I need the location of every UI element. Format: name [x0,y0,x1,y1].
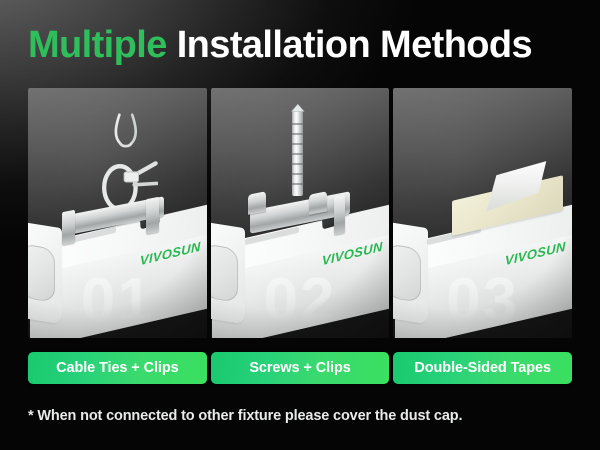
mounting-clip-tab-right [146,197,159,234]
page-title: Multiple Installation Methods [28,26,532,64]
method-panel-02[interactable]: VIVOSUN 02 [211,88,390,338]
method-panels: VIVOSUN 01 [28,88,572,338]
title-rest: Installation Methods [177,24,532,66]
promo-graphic: Multiple Installation Methods [0,0,600,450]
method-labels: Cable Ties + Clips Screws + Clips Double… [28,352,572,384]
method-number-01: 01 [28,270,207,332]
screw-thread [291,163,304,165]
screw-thread [291,133,304,135]
screw-thread [291,183,304,185]
mounting-clip-tab-mid [309,191,327,214]
method-panel-01[interactable]: VIVOSUN 01 [28,88,207,338]
screw-thread [291,153,304,155]
screw-thread [291,173,304,175]
method-label-02[interactable]: Screws + Clips [211,352,390,384]
method-number-02: 02 [211,270,390,332]
method-label-01[interactable]: Cable Ties + Clips [28,352,207,384]
title-accent-word: Multiple [28,24,167,66]
method-label-03[interactable]: Double-Sided Tapes [393,352,572,384]
method-panel-03[interactable]: VIVOSUN 03 [393,88,572,338]
screw-thread [291,123,304,125]
footer-note: * When not connected to other fixture pl… [28,408,572,424]
screw-thread [291,143,304,145]
mounting-clip-tab-right [334,194,345,234]
mounting-clip-tab-left [62,209,75,244]
screw-tip-icon [288,101,308,121]
method-number-03: 03 [393,270,572,332]
mounting-clip-tab-left [248,191,266,214]
